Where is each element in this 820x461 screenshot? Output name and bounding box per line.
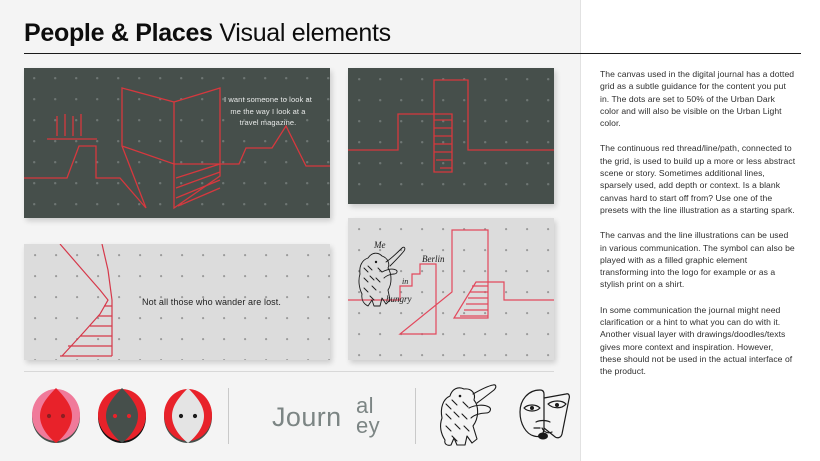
slide-canvas: People & Places Visual elements I wa <box>0 0 820 461</box>
description-column: The canvas used in the digital journal h… <box>600 68 796 391</box>
page-title: People & Places Visual elements <box>24 18 584 48</box>
description-paragraph-4: In some communication the journal might … <box>600 304 796 378</box>
two-faces-doodle-icon <box>512 384 574 446</box>
band-divider-left <box>228 388 229 444</box>
header-rule <box>24 53 801 54</box>
wordmark-bottom: ey <box>356 414 380 437</box>
band-divider-right <box>415 388 416 444</box>
canvas-panel-berlin[interactable]: Me in hungry Berlin <box>348 218 554 360</box>
face-mark-red-dark-icon[interactable] <box>96 386 148 444</box>
logo-band: Journ al ey <box>24 374 554 456</box>
panel-quote-text: I want someone to look at me the way I l… <box>220 94 316 129</box>
description-paragraph-1: The canvas used in the digital journal h… <box>600 68 796 129</box>
wordmark-main: Journ <box>272 402 342 432</box>
description-paragraph-2: The continuous red thread/line/path, con… <box>600 142 796 216</box>
face-marks-group <box>30 386 220 444</box>
annotation-in: in <box>402 277 408 286</box>
journey-wordmark: Journ al ey <box>272 392 422 442</box>
page-title-bold: People & Places <box>24 19 213 47</box>
red-thread-illustration <box>24 68 330 218</box>
page-header: People & Places Visual elements <box>24 18 584 52</box>
canvas-panel-abstract[interactable] <box>348 68 554 204</box>
annotation-me: Me <box>373 240 386 250</box>
red-thread-illustration <box>348 68 554 204</box>
annotation-hungry: hungry <box>386 294 412 304</box>
canvas-panel-wander[interactable]: Not all those who wander are lost. <box>24 244 330 360</box>
face-mark-dark-light-icon[interactable] <box>162 386 214 444</box>
band-top-rule <box>24 371 554 372</box>
annotation-berlin: Berlin <box>422 254 445 264</box>
description-paragraph-3: The canvas and the line illustrations ca… <box>600 229 796 290</box>
face-mark-pink-red-icon[interactable] <box>30 386 82 444</box>
berlin-bear-doodle: Me in hungry Berlin <box>348 218 554 360</box>
canvas-panel-travel-magazine[interactable]: I want someone to look at me the way I l… <box>24 68 330 218</box>
column-divider <box>580 0 581 461</box>
page-title-light: Visual elements <box>219 19 391 47</box>
bear-doodle-icon <box>434 382 504 448</box>
panel-quote-text: Not all those who wander are lost. <box>142 296 322 309</box>
doodle-group <box>434 382 574 448</box>
